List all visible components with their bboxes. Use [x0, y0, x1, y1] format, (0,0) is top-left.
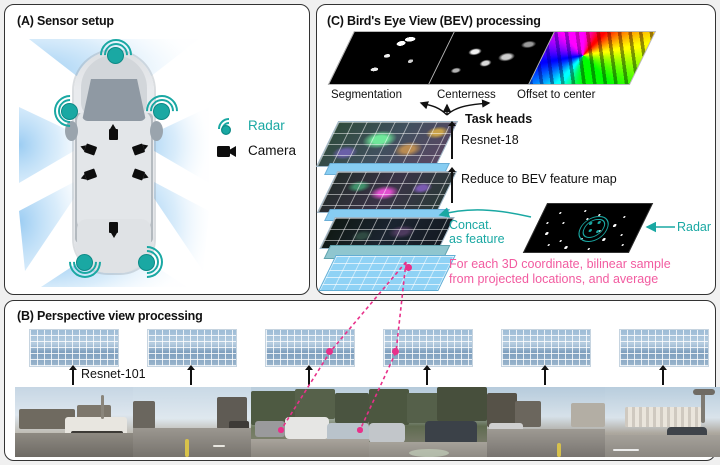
bev-feature-surface-mid: [317, 171, 457, 213]
label-task-heads: Task heads: [465, 112, 532, 126]
radar-front: [107, 47, 124, 64]
image-sample-point-3: [278, 427, 284, 433]
panel-bev-processing: (C) Bird's Eye View (BEV) processing Seg…: [316, 4, 716, 295]
car-windshield: [82, 79, 146, 121]
voxel-col-lines: [320, 256, 455, 290]
bev-grid-concat: [321, 218, 454, 248]
arrow-resnet18: [451, 125, 453, 159]
radar-icon: [213, 116, 243, 136]
camera-rear: [109, 222, 118, 233]
label-concat-line2: as feature: [449, 232, 505, 246]
arrow-resnet101-1: [72, 369, 74, 385]
image-sample-point-4: [357, 427, 363, 433]
label-sample-line2: from projected locations, and average: [449, 272, 658, 286]
sensor-legend: Radar Camera: [213, 113, 296, 163]
voxel-volume: [318, 255, 456, 291]
bev-feature-surface-top: [316, 121, 458, 167]
arrow-resnet101-2: [190, 369, 192, 385]
camera-image-6: [605, 387, 720, 457]
bev-feature-slab-mid: [327, 171, 445, 211]
radar-point-cloud: [523, 203, 653, 253]
bev-pipeline-diagram: Segmentation Centerness Offset to center…: [317, 5, 717, 296]
camera-image-2: [133, 387, 251, 457]
legend-label-camera: Camera: [248, 143, 296, 158]
label-bilinear-sample: For each 3D coordinate, bilinear sample …: [449, 257, 671, 287]
legend-label-radar: Radar: [248, 118, 285, 133]
voxel-sample-point: [405, 264, 412, 271]
camera-image-3: [251, 387, 369, 457]
perspective-feature-map-5: [501, 329, 591, 367]
camera-image-4: [369, 387, 487, 457]
arrow-resnet101-3: [308, 369, 310, 385]
label-radar-source: Radar: [677, 220, 711, 234]
label-resnet101: Resnet-101: [81, 367, 146, 381]
arrow-resnet101-5: [544, 369, 546, 385]
camera-image-1: [15, 387, 133, 457]
legend-row-camera: Camera: [213, 138, 296, 163]
label-resnet18: Resnet-18: [461, 133, 519, 147]
bev-concat-slab: [327, 217, 445, 247]
arrow-reduce: [451, 171, 453, 203]
task-map-label-segmentation: Segmentation: [331, 89, 402, 101]
task-map-label-offset: Offset to center: [517, 89, 595, 101]
perspective-feature-map-6: [619, 329, 709, 367]
legend-row-radar: Radar: [213, 113, 296, 138]
camera-icon: [213, 142, 243, 160]
perspective-feature-map-2: [147, 329, 237, 367]
bev-grid-mid: [318, 172, 456, 212]
perspective-feature-map-3: [265, 329, 355, 367]
bev-grid-top: [317, 122, 456, 166]
label-reduce-bev: Reduce to BEV feature map: [461, 172, 617, 186]
label-concat-line1: Concat.: [449, 218, 492, 232]
camera-image-5: [487, 387, 605, 457]
radar-mid-right: [153, 103, 170, 120]
perspective-feature-map-1: [29, 329, 119, 367]
perspective-pipeline: Resnet-101: [5, 301, 717, 462]
label-sample-line1: For each 3D coordinate, bilinear sample: [449, 257, 671, 271]
radar-rear-left: [76, 254, 93, 271]
camera-front: [109, 129, 118, 140]
task-map-label-centerness: Centerness: [437, 89, 496, 101]
arrow-resnet101-4: [426, 369, 428, 385]
label-concat: Concat. as feature: [449, 218, 505, 246]
arrow-resnet101-6: [662, 369, 664, 385]
panel-a-title: (A) Sensor setup: [17, 14, 114, 28]
radar-mid-left: [61, 103, 78, 120]
sensor-setup-diagram: [19, 33, 209, 288]
feature-sample-point-3: [326, 348, 333, 355]
panel-perspective-view-processing: (B) Perspective view processing Resnet-1…: [4, 300, 716, 461]
panel-sensor-setup: (A) Sensor setup: [4, 4, 310, 295]
bev-feature-slab-top: [327, 121, 445, 165]
radar-rear-right: [138, 254, 155, 271]
feature-sample-point-4: [392, 348, 399, 355]
